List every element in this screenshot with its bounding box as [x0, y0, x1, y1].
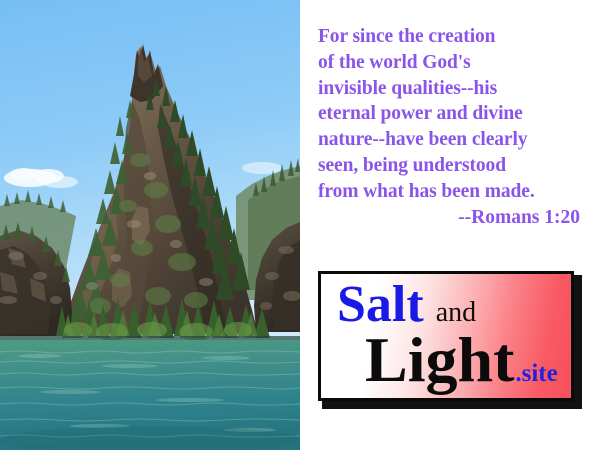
verse-line-5: nature--have been clearly: [318, 127, 594, 153]
verse-line-6: seen, being understood: [318, 153, 594, 179]
landscape-photo: [0, 0, 300, 450]
logo-inner: Salt and Light .site: [321, 274, 571, 398]
poster-canvas: For since the creation of the world God'…: [0, 0, 600, 450]
logo-word-site: .site: [515, 338, 557, 401]
logo-word-light: Light: [365, 324, 514, 396]
verse-line-1: For since the creation: [318, 24, 594, 50]
photo-artwork: [0, 0, 300, 450]
verse-line-7: from what has been made.: [318, 179, 594, 205]
verse-attribution: --Romans 1:20: [318, 205, 594, 231]
logo-line-bottom: Light .site: [365, 324, 558, 401]
verse-line-3: invisible qualities--his: [318, 76, 594, 102]
salt-and-light-logo[interactable]: Salt and Light .site: [318, 271, 574, 401]
verse-line-4: eternal power and divine: [318, 101, 594, 127]
verse-line-2: of the world God's: [318, 50, 594, 76]
scripture-verse: For since the creation of the world God'…: [318, 24, 594, 230]
